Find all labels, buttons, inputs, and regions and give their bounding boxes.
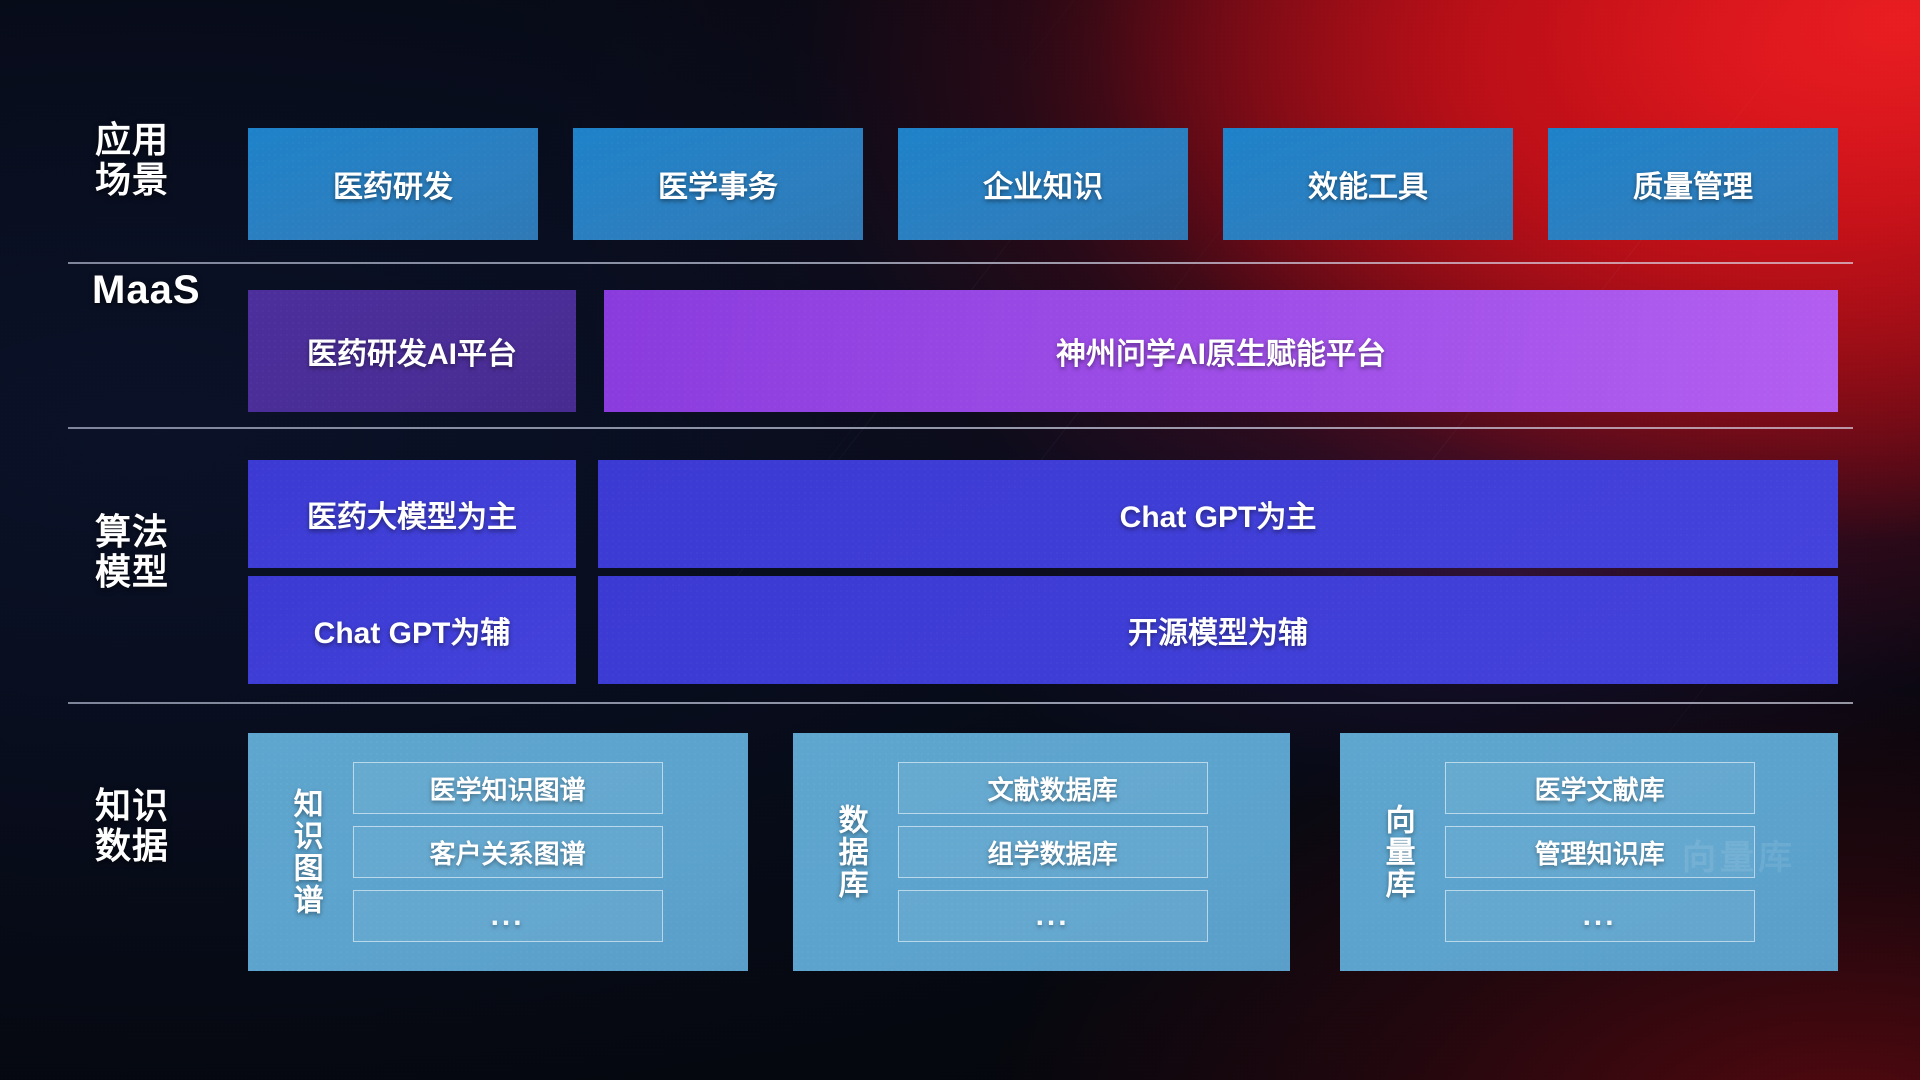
knowledge-panel-0-item-0[interactable]: 医学知识图谱 xyxy=(353,762,663,814)
divider-application-maas xyxy=(68,262,1853,264)
knowledge-panel-1[interactable]: 数据库 文献数据库 组学数据库 ... xyxy=(793,733,1290,971)
algo-left-box-0-label: 医药大模型为主 xyxy=(307,492,517,536)
algo-left-box-0[interactable]: 医药大模型为主 xyxy=(248,460,576,568)
algo-left-box-1[interactable]: Chat GPT为辅 xyxy=(248,576,576,684)
knowledge-panel-0[interactable]: 知识图谱 医学知识图谱 客户关系图谱 ... xyxy=(248,733,748,971)
knowledge-panel-2[interactable]: 向量库 医学文献库 管理知识库 ... 向量库 xyxy=(1340,733,1838,971)
app-box-0-label: 医药研发 xyxy=(333,162,453,206)
row-label-maas: MaaS xyxy=(92,268,272,313)
divider-algorithm-knowledge xyxy=(68,702,1853,704)
algo-right-box-0[interactable]: Chat GPT为主 xyxy=(598,460,1838,568)
knowledge-panel-1-item-0[interactable]: 文献数据库 xyxy=(898,762,1208,814)
row-label-application: 应用 场景 xyxy=(95,120,235,201)
app-box-1-label: 医学事务 xyxy=(658,162,778,206)
knowledge-panel-2-item-0[interactable]: 医学文献库 xyxy=(1445,762,1755,814)
knowledge-panel-1-item-1[interactable]: 组学数据库 xyxy=(898,826,1208,878)
algo-left-box-1-label: Chat GPT为辅 xyxy=(314,608,511,652)
app-box-4[interactable]: 质量管理 xyxy=(1548,128,1838,240)
row-label-knowledge: 知识 数据 xyxy=(95,786,235,867)
maas-wide-box-label: 神州问学AI原生赋能平台 xyxy=(1056,329,1386,373)
knowledge-panel-0-item-2[interactable]: ... xyxy=(353,890,663,942)
maas-left-box-label: 医药研发AI平台 xyxy=(307,329,517,373)
architecture-diagram: 应用 场景 MaaS 算法 模型 知识 数据 医药研发 医学事务 企业知识 效能… xyxy=(0,0,1920,1080)
knowledge-panel-2-item-1[interactable]: 管理知识库 xyxy=(1445,826,1755,878)
knowledge-panel-1-vertical-label: 数据库 xyxy=(831,804,868,900)
knowledge-panel-2-item-2[interactable]: ... xyxy=(1445,890,1755,942)
maas-left-box[interactable]: 医药研发AI平台 xyxy=(248,290,576,412)
app-box-3-label: 效能工具 xyxy=(1308,162,1428,206)
knowledge-panel-1-item-2[interactable]: ... xyxy=(898,890,1208,942)
algo-right-box-0-label: Chat GPT为主 xyxy=(1120,492,1317,536)
row-label-algorithm: 算法 模型 xyxy=(95,512,235,593)
app-box-1[interactable]: 医学事务 xyxy=(573,128,863,240)
app-box-2[interactable]: 企业知识 xyxy=(898,128,1188,240)
app-box-4-label: 质量管理 xyxy=(1633,162,1753,206)
app-box-3[interactable]: 效能工具 xyxy=(1223,128,1513,240)
knowledge-panel-0-item-1[interactable]: 客户关系图谱 xyxy=(353,826,663,878)
algo-right-box-1-label: 开源模型为辅 xyxy=(1128,608,1308,652)
maas-wide-box[interactable]: 神州问学AI原生赋能平台 xyxy=(604,290,1838,412)
app-box-0[interactable]: 医药研发 xyxy=(248,128,538,240)
knowledge-panel-2-vertical-label: 向量库 xyxy=(1378,804,1415,900)
algo-right-box-1[interactable]: 开源模型为辅 xyxy=(598,576,1838,684)
knowledge-panel-0-vertical-label: 知识图谱 xyxy=(286,788,323,916)
divider-maas-algorithm xyxy=(68,427,1853,429)
app-box-2-label: 企业知识 xyxy=(983,162,1103,206)
